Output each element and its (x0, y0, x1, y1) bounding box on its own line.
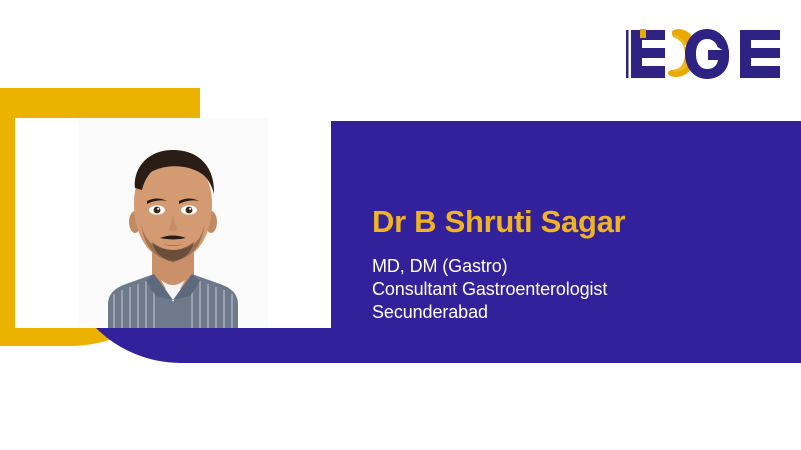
speaker-photo-card (15, 118, 331, 328)
logo-letter-e-first (626, 29, 667, 78)
credential-line-degree: MD, DM (Gastro) (372, 255, 772, 278)
speaker-intro-slide: Dr B Shruti Sagar MD, DM (Gastro) Consul… (0, 0, 801, 450)
logo-letter-g (685, 29, 729, 79)
page-title: Dr B Shruti Sagar (372, 206, 772, 239)
logo-letter-e-second (740, 30, 781, 78)
avatar (78, 118, 268, 328)
portrait-photo (78, 118, 268, 328)
speaker-details: Dr B Shruti Sagar MD, DM (Gastro) Consul… (372, 206, 772, 324)
credential-line-city: Secunderabad (372, 301, 772, 324)
edge-logo (622, 22, 794, 86)
credential-line-role: Consultant Gastroenterologist (372, 278, 772, 301)
edge-logo-mark (622, 24, 794, 84)
